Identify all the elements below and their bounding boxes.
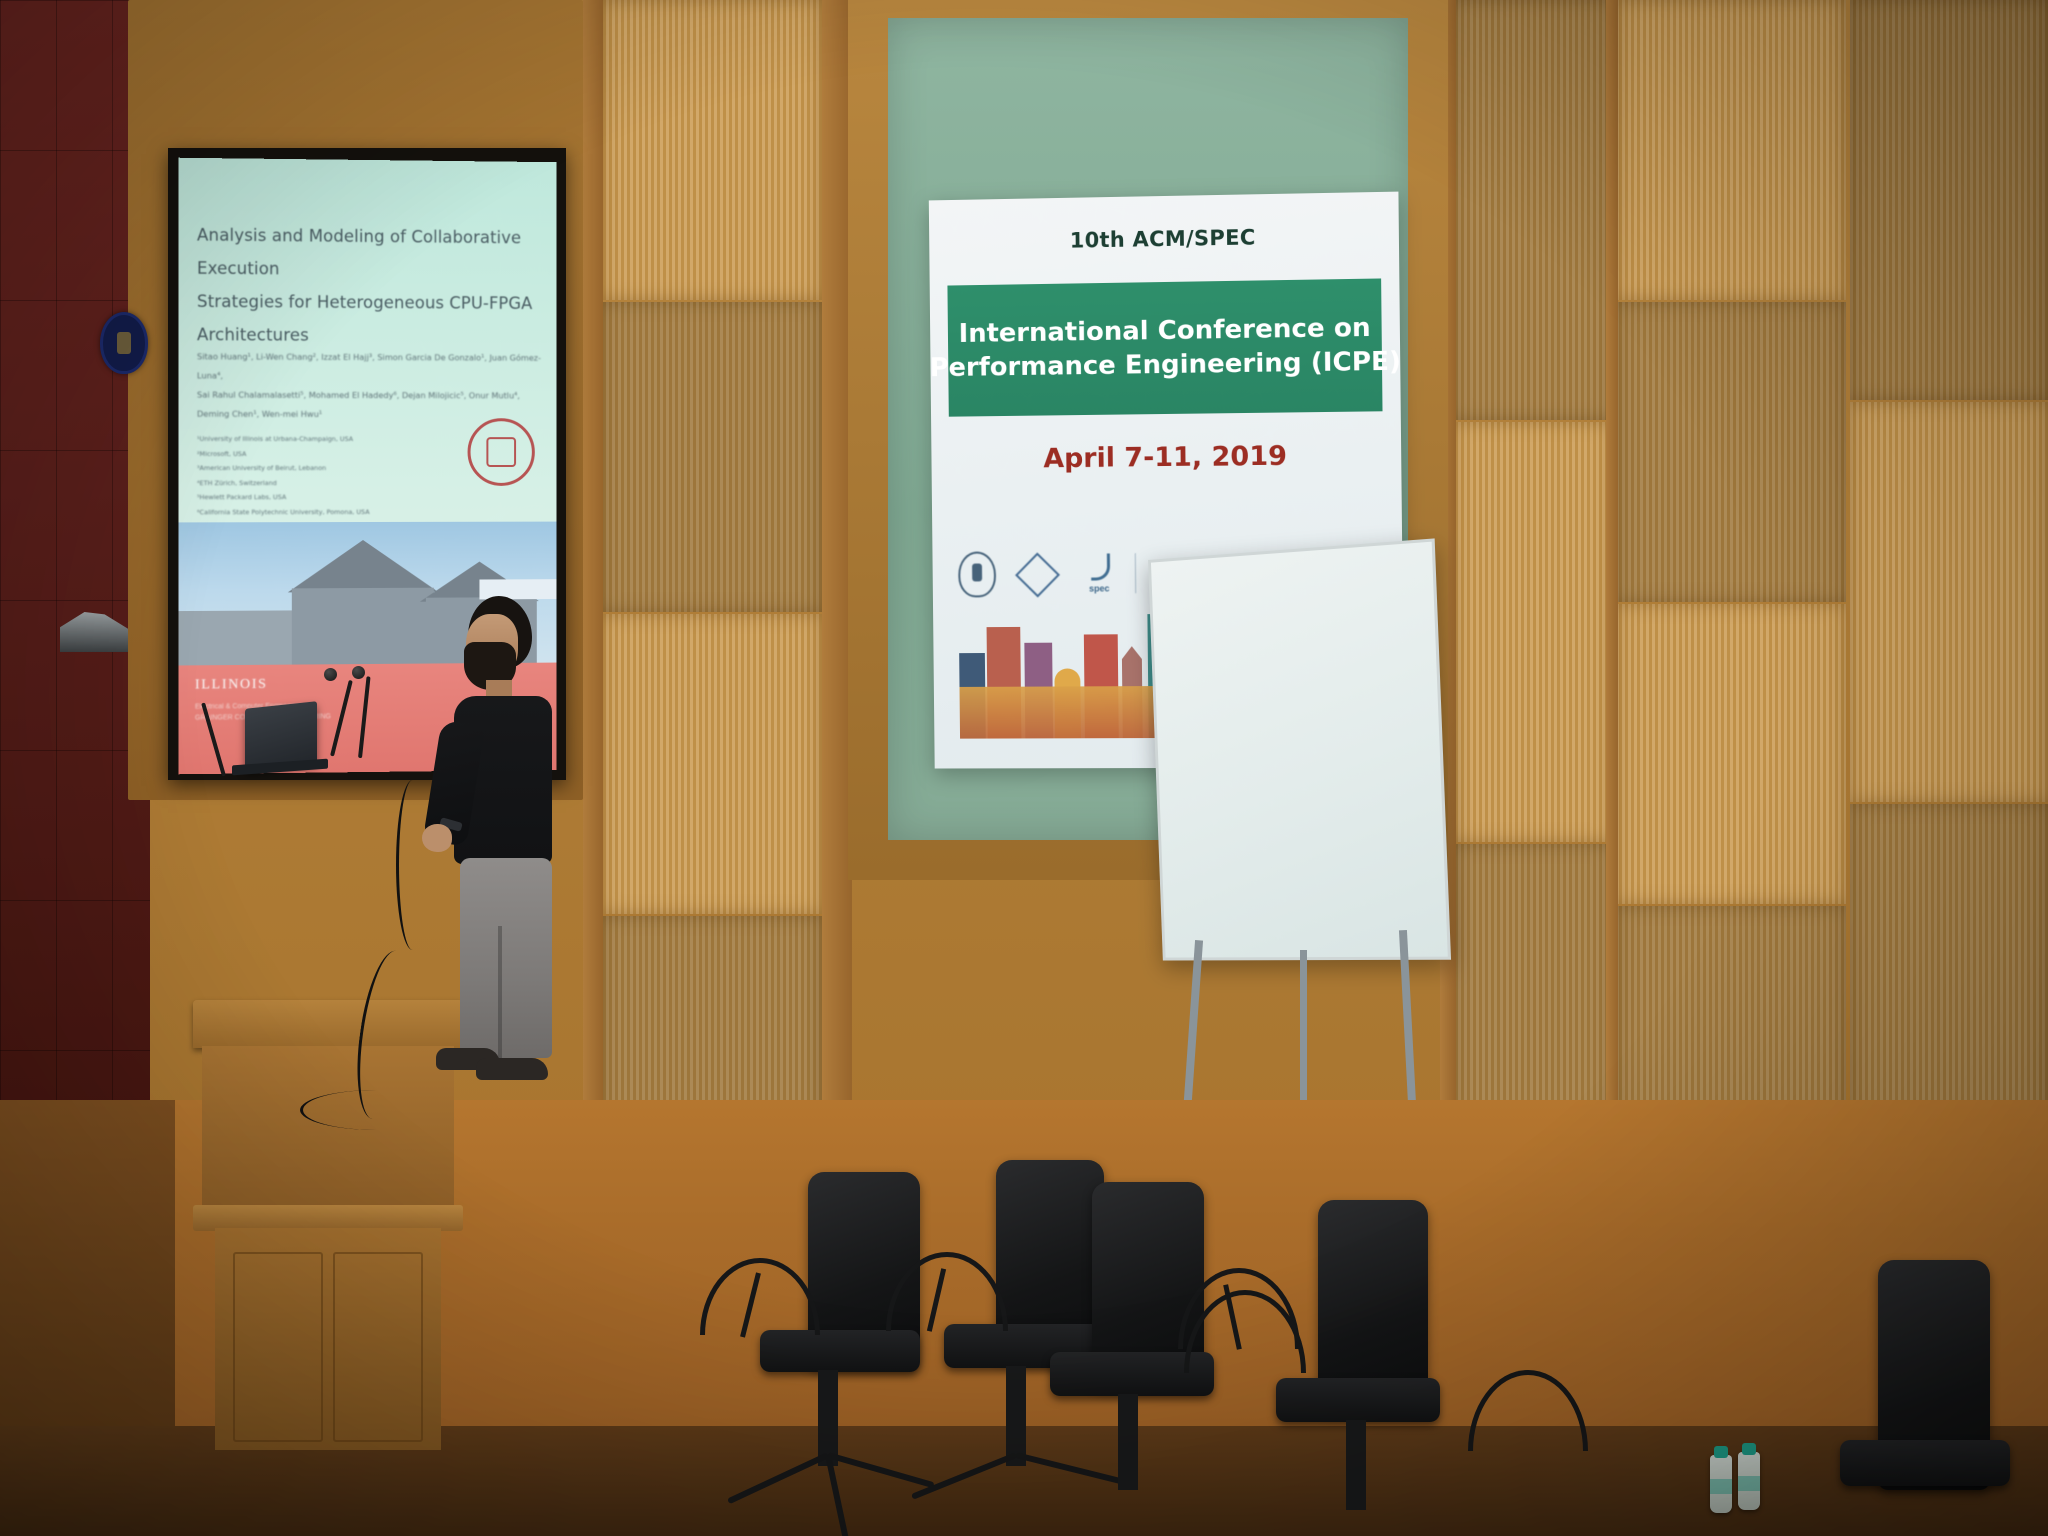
wall-panel — [1616, 0, 1846, 300]
wall-panel — [1850, 0, 2048, 400]
slide-title: Analysis and Modeling of Collaborative E… — [197, 218, 543, 352]
microphone-head-icon — [324, 668, 337, 681]
wall-panel — [1616, 302, 1846, 602]
wall-panel — [600, 302, 822, 612]
presenter-hand — [422, 824, 452, 852]
institute-crest-icon — [958, 551, 996, 597]
illinois-logo: ILLINOIS — [195, 677, 268, 694]
bottle-label — [1738, 1476, 1760, 1491]
wall-panel — [1616, 604, 1846, 904]
wall-panel — [1452, 422, 1612, 842]
conference-hall-photo: Analysis and Modeling of Collaborative E… — [0, 0, 2048, 1536]
water-bottle — [1738, 1452, 1760, 1510]
whiteboard-flipchart — [1148, 538, 1451, 960]
trouser-seam — [498, 926, 502, 1058]
acm-diamond-icon — [1010, 557, 1064, 591]
wall-mullion — [583, 0, 603, 1200]
presenter-shoe — [476, 1058, 548, 1080]
water-bottle — [1710, 1455, 1732, 1513]
banner-title-block: International Conference on Performance … — [947, 278, 1382, 416]
wall-panel — [600, 0, 822, 300]
institute-emblem-icon — [100, 312, 148, 374]
presenter-trousers — [460, 858, 552, 1058]
slide-affiliations: ¹University of Illinois at Urbana-Champa… — [197, 432, 549, 520]
microphone-head-icon — [352, 666, 365, 679]
wall-panel — [1850, 402, 2048, 802]
spec-curve-icon: spec — [1077, 553, 1121, 593]
stage-riser — [0, 1100, 175, 1440]
banner-edition: 10th ACM/SPEC — [929, 192, 1400, 286]
wall-mullion — [1606, 0, 1618, 1200]
lectern-body — [202, 1046, 454, 1216]
slide-authors: Sitao Huang¹, Li-Wen Chang², Izzat El Ha… — [197, 347, 549, 424]
banner-date: April 7-11, 2019 — [931, 439, 1401, 475]
floor-cable — [300, 1090, 453, 1130]
sponsor-divider — [1135, 553, 1136, 593]
bottle-label — [1710, 1479, 1732, 1494]
wall-panel — [600, 614, 822, 914]
wall-panel — [1452, 0, 1612, 420]
presenter — [420, 596, 550, 1076]
